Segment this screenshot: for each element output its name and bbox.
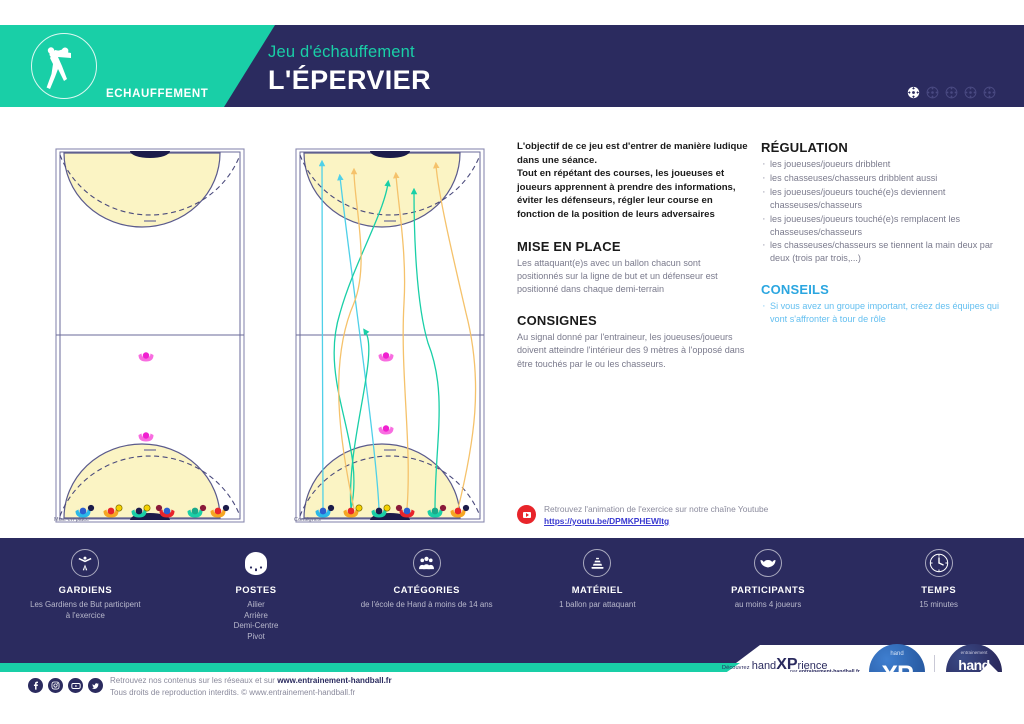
twitter-icon[interactable] — [88, 678, 103, 693]
info-label: POSTES — [235, 584, 276, 595]
list-item: les chasseuses/chasseurs dribblent aussi — [761, 172, 1011, 185]
handball-ball-icon — [945, 86, 958, 99]
regulation-heading: RÉGULATION — [761, 140, 1011, 155]
brand-navy-wedge — [0, 645, 760, 663]
court-diagram-instructions: Consignes — [288, 143, 492, 528]
info-label: TEMPS — [921, 584, 956, 595]
info-value: 15 minutes — [919, 600, 958, 611]
footer-line1: Retrouvez nos contenus sur les réseaux e… — [110, 675, 392, 687]
info-cell-categories: CATÉGORIES de l'école de Hand à moins de… — [341, 538, 512, 652]
footer-line1-site: www.entrainement-handball.fr — [277, 676, 391, 685]
list-item: les joueuses/joueurs dribblent — [761, 158, 1011, 171]
list-item: les chasseuses/chasseurs se tiennent la … — [761, 239, 1011, 265]
header-subtitle: Jeu d'échauffement — [268, 43, 415, 62]
handball-ball-icon — [926, 86, 939, 99]
info-cell-participants: PARTICIPANTS au moins 4 joueurs — [683, 538, 854, 652]
info-label: MATÉRIEL — [572, 584, 623, 595]
youtube-icon[interactable] — [68, 678, 83, 693]
handball-ball-icon — [983, 86, 996, 99]
exercise-metadata-bar: GARDIENS Les Gardiens de But participent… — [0, 538, 1024, 652]
court-svg-setup — [48, 143, 252, 528]
youtube-icon — [517, 505, 536, 524]
info-value: AilierArrièreDemi-CentrePivot — [234, 600, 279, 643]
group-people-glyph — [418, 555, 435, 572]
instagram-icon[interactable] — [48, 678, 63, 693]
goalkeeper-icon — [71, 549, 99, 577]
list-item: Si vous avez un groupe important, créez … — [761, 300, 1011, 326]
info-cell-postes: POSTES AilierArrièreDemi-CentrePivot — [171, 538, 342, 652]
youtube-link-block[interactable]: Retrouvez l'animation de l'exercice sur … — [517, 504, 768, 526]
positions-ball-icon — [242, 549, 270, 577]
mise-en-place-heading: MISE EN PLACE — [517, 239, 749, 254]
footer-text: Retrouvez nos contenus sur les réseaux e… — [110, 675, 392, 699]
difficulty-rating — [907, 86, 996, 99]
youtube-caption: Retrouvez l'animation de l'exercice sur … — [544, 504, 768, 516]
brand-name-part1: hand — [752, 660, 776, 672]
hands-icon — [754, 549, 782, 577]
page-title: L'ÉPERVIER — [268, 65, 431, 96]
social-links — [28, 678, 103, 693]
info-cell-temps: TEMPS 15 minutes — [853, 538, 1024, 652]
consignes-heading: CONSIGNES — [517, 313, 749, 328]
court-caption-setup: Mise en place — [54, 517, 89, 523]
cone-icon — [583, 549, 611, 577]
brand-name-x: X — [776, 656, 787, 673]
page-footer: Retrouvez nos contenus sur les réseaux e… — [0, 672, 1024, 724]
info-cell-gardiens: GARDIENS Les Gardiens de But participent… — [0, 538, 171, 652]
cone-glyph — [589, 555, 606, 572]
info-cell-materiel: MATÉRIEL 1 ballon par attaquant — [512, 538, 683, 652]
top-margin — [0, 0, 1024, 25]
mise-en-place-body: Les attaquant(e)s avec un ballon chacun … — [517, 257, 749, 297]
court-caption-instructions: Consignes — [294, 517, 321, 523]
header-category-label: ECHAUFFEMENT — [106, 88, 208, 100]
goalkeeper-glyph — [76, 554, 94, 572]
facebook-icon[interactable] — [28, 678, 43, 693]
handball-ball-icon — [907, 86, 920, 99]
court-diagram-setup: Mise en place — [48, 143, 252, 528]
logo-hb-top-text: entrainement — [946, 650, 1002, 655]
list-item: les joueuses/joueurs touché(e)s remplace… — [761, 213, 1011, 239]
info-value: Les Gardiens de But participentà l'exerc… — [30, 600, 141, 621]
description-column: L'objectif de ce jeu est d'entrer de man… — [517, 140, 749, 371]
conseils-list: Si vous avez un groupe important, créez … — [761, 300, 1011, 326]
info-value: au moins 4 joueurs — [735, 600, 802, 611]
info-label: CATÉGORIES — [394, 584, 460, 595]
conseils-heading: CONSEILS — [761, 282, 1011, 297]
logo-handxp-small: hand — [869, 651, 925, 657]
positions-ball-glyph — [242, 549, 270, 577]
consignes-body: Au signal donné par l'entraineur, les jo… — [517, 331, 749, 371]
info-label: PARTICIPANTS — [731, 584, 805, 595]
hands-glyph — [759, 554, 777, 572]
objective-text: L'objectif de ce jeu est d'entrer de man… — [517, 140, 749, 222]
clock-glyph — [928, 552, 950, 574]
info-value: de l'école de Hand à moins de 14 ans — [361, 600, 493, 611]
footer-line1-prefix: Retrouvez nos contenus sur les réseaux e… — [110, 676, 277, 685]
info-label: GARDIENS — [59, 584, 112, 595]
footer-line2: Tous droits de reproduction interdits. ©… — [110, 687, 392, 699]
regulation-column: RÉGULATION les joueuses/joueurs dribblen… — [761, 140, 1011, 327]
regulation-list: les joueuses/joueurs dribblent les chass… — [761, 158, 1011, 265]
exercise-header: ECHAUFFEMENT Jeu d'échauffement L'ÉPERVI… — [0, 25, 1024, 107]
handball-player-icon — [31, 33, 97, 99]
brand-discover: Découvrez — [722, 665, 750, 671]
youtube-url[interactable]: https://youtu.be/DPMKPHEWItg — [544, 516, 768, 526]
list-item: les joueuses/joueurs touché(e)s devienne… — [761, 186, 1011, 212]
court-svg-instructions — [288, 143, 492, 528]
clock-icon — [925, 549, 953, 577]
group-people-icon — [413, 549, 441, 577]
info-value: 1 ballon par attaquant — [559, 600, 635, 611]
handball-ball-icon — [964, 86, 977, 99]
